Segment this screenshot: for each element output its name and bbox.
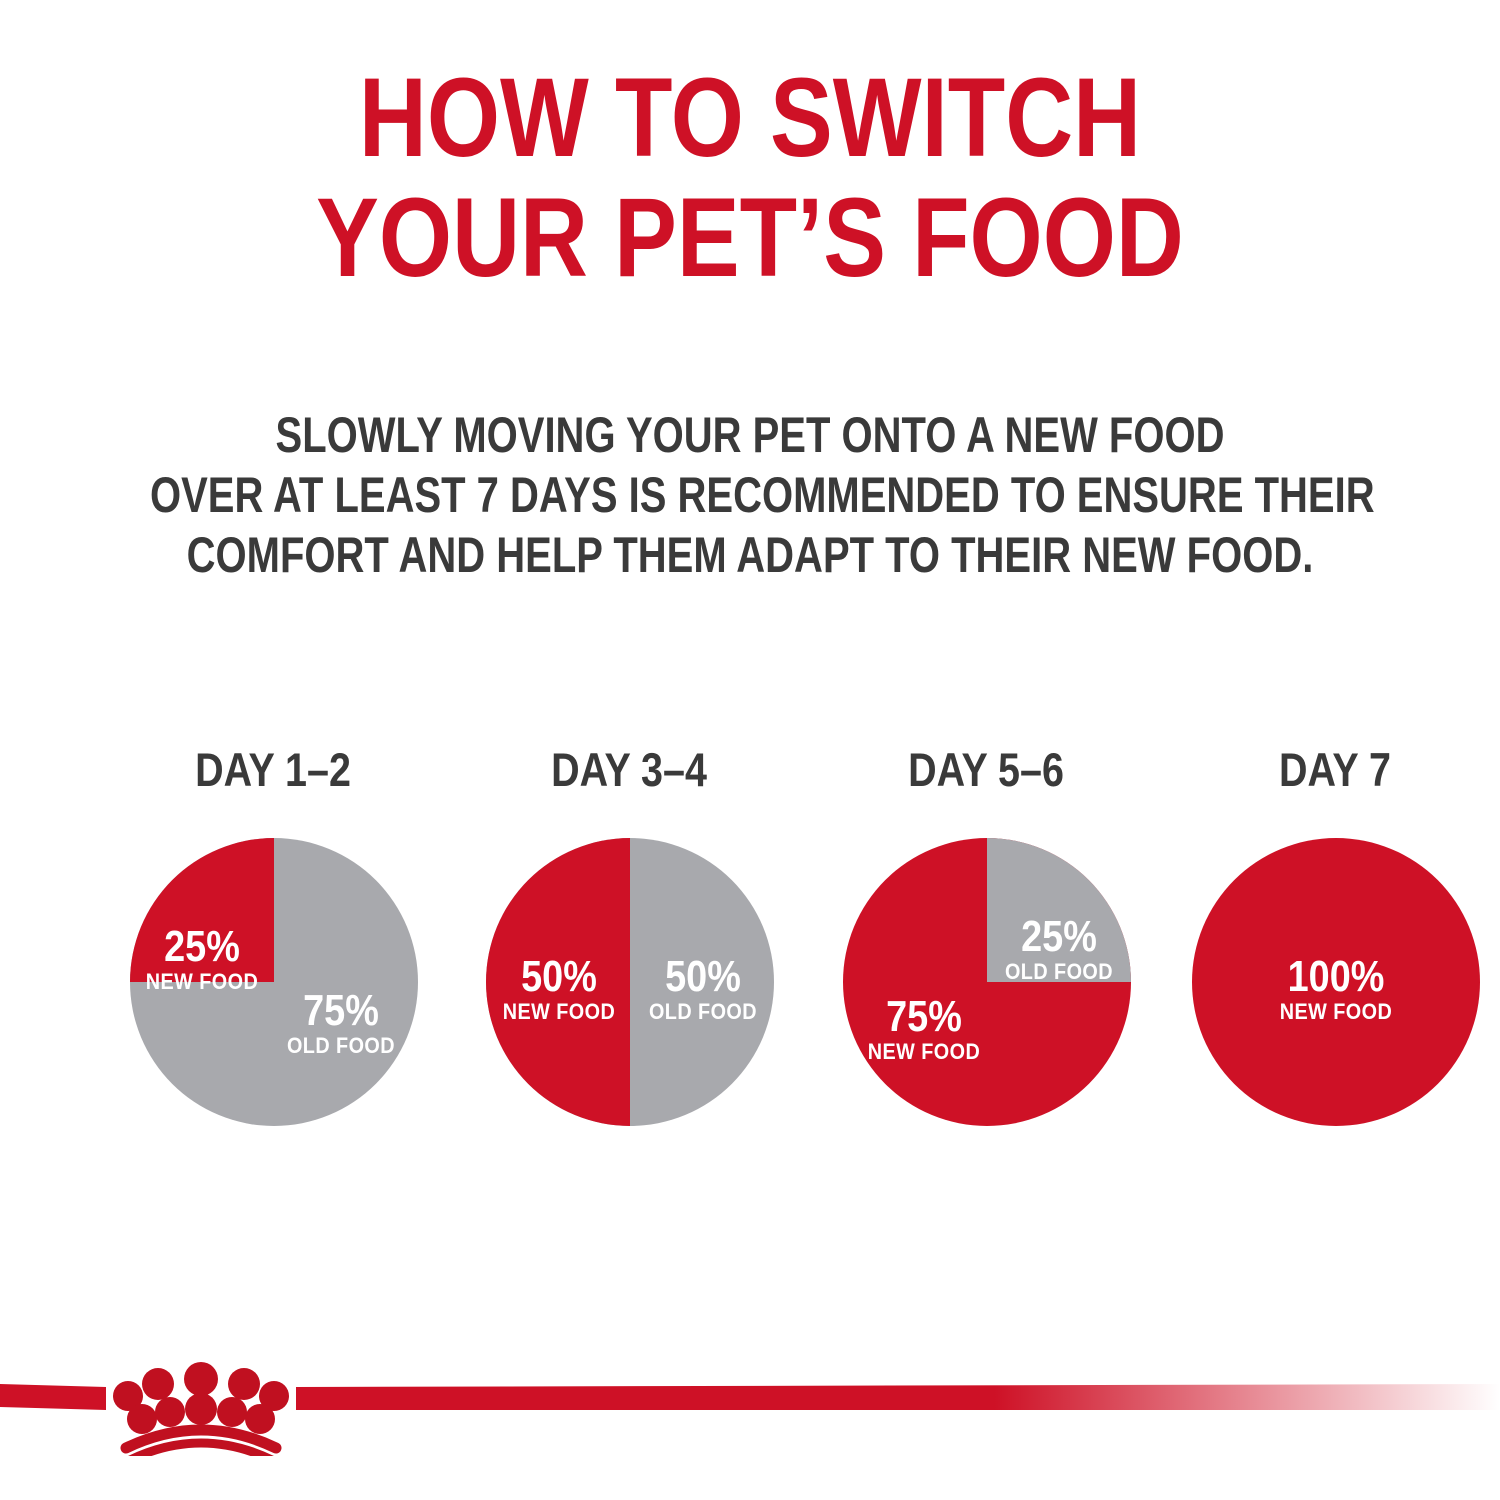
pie-slice-new-food xyxy=(486,838,630,1126)
pie-graphic-day-3-4: 50% NEW FOOD 50% OLD FOOD xyxy=(485,837,775,1127)
pie-svg-day-3-4 xyxy=(485,837,775,1127)
pie-chart-day-3-4: DAY 3–4 50% NEW FOOD 50% OLD FOOD xyxy=(479,745,779,1165)
pie-svg-day-1-2 xyxy=(129,837,419,1127)
title-line-2: YOUR PET’S FOOD xyxy=(120,182,1380,294)
pie-svg-day-7 xyxy=(1191,837,1481,1127)
pie-slice-old-food xyxy=(987,838,1131,982)
footer-rule-right xyxy=(296,1384,1500,1410)
day-label-5-6: DAY 5–6 xyxy=(860,745,1112,795)
pie-chart-day-7: DAY 7 100% NEW FOOD xyxy=(1185,745,1485,1165)
pie-graphic-day-1-2: 25% NEW FOOD 75% OLD FOOD xyxy=(129,837,419,1127)
crown-icon xyxy=(106,1336,296,1456)
footer-band xyxy=(0,1374,1500,1420)
pie-slice-new-food xyxy=(130,838,274,982)
pie-slice-new-food xyxy=(1192,838,1480,1126)
pie-chart-day-5-6: DAY 5–6 75% NEW FOOD 25% OLD FOOD xyxy=(836,745,1136,1165)
footer-rule-left xyxy=(0,1384,106,1410)
day-label-3-4: DAY 3–4 xyxy=(503,745,755,795)
subtitle-line-2: OVER AT LEAST 7 DAYS IS RECOMMENDED TO E… xyxy=(150,465,1350,525)
subtitle-line-1: SLOWLY MOVING YOUR PET ONTO A NEW FOOD xyxy=(150,405,1350,465)
day-label-7: DAY 7 xyxy=(1209,745,1461,795)
pie-graphic-day-5-6: 75% NEW FOOD 25% OLD FOOD xyxy=(842,837,1132,1127)
pie-chart-day-1-2: DAY 1–2 25% NEW FOOD 75% OLD FOOD xyxy=(123,745,423,1165)
title-line-1: HOW TO SWITCH xyxy=(120,62,1380,174)
subtitle: SLOWLY MOVING YOUR PET ONTO A NEW FOOD O… xyxy=(0,405,1500,585)
subtitle-line-3: COMFORT AND HELP THEM ADAPT TO THEIR NEW… xyxy=(150,525,1350,585)
pie-graphic-day-7: 100% NEW FOOD xyxy=(1191,837,1481,1127)
pie-chart-row: DAY 1–2 25% NEW FOOD 75% OLD FOOD xyxy=(0,745,1500,1165)
page-title: HOW TO SWITCH YOUR PET’S FOOD xyxy=(0,62,1500,294)
pie-svg-day-5-6 xyxy=(842,837,1132,1127)
day-label-1-2: DAY 1–2 xyxy=(147,745,399,795)
brand-logo xyxy=(106,1336,296,1456)
infographic-page: HOW TO SWITCH YOUR PET’S FOOD SLOWLY MOV… xyxy=(0,0,1500,1500)
